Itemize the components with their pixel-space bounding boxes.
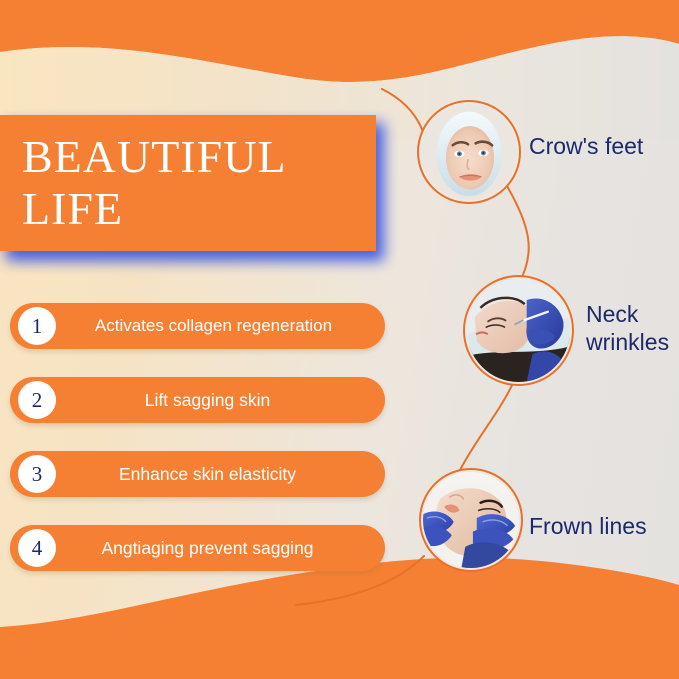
feature-label-4: Angtiaging prevent sagging — [56, 538, 385, 559]
title-block: BEAUTIFUL LIFE — [0, 115, 376, 251]
feature-number-2: 2 — [18, 381, 56, 419]
feature-label-3: Enhance skin elasticity — [56, 464, 385, 485]
feature-item-2[interactable]: 2 Lift sagging skin — [10, 377, 385, 423]
page-title: BEAUTIFUL LIFE — [0, 115, 382, 255]
feature-list: 1 Activates collagen regeneration 2 Lift… — [10, 303, 385, 599]
feature-label-1: Activates collagen regeneration — [56, 316, 385, 336]
title-text: BEAUTIFUL LIFE — [0, 131, 287, 235]
feature-label-2: Lift sagging skin — [56, 390, 385, 411]
feature-item-4[interactable]: 4 Angtiaging prevent sagging — [10, 525, 385, 571]
neck-injection-gloves-photo — [467, 279, 570, 382]
frown-lines-photo-circle — [419, 468, 523, 572]
crows-feet-label: Crow's feet — [529, 132, 679, 160]
crows-feet-photo-circle — [417, 100, 521, 204]
neck-wrinkles-photo-circle — [463, 275, 574, 386]
feature-item-1[interactable]: 1 Activates collagen regeneration — [10, 303, 385, 349]
feature-number-4: 4 — [18, 529, 56, 567]
woman-face-headband-photo — [421, 104, 517, 200]
neck-wrinkles-label: Neck wrinkles — [586, 300, 679, 356]
feature-number-3: 3 — [18, 455, 56, 493]
feature-item-3[interactable]: 3 Enhance skin elasticity — [10, 451, 385, 497]
feature-number-1: 1 — [18, 307, 56, 345]
frown-lines-label: Frown lines — [529, 512, 679, 540]
promo-banner: BEAUTIFUL LIFE 1 Activates collagen rege… — [0, 0, 679, 679]
face-massage-gloves-photo — [423, 472, 519, 568]
